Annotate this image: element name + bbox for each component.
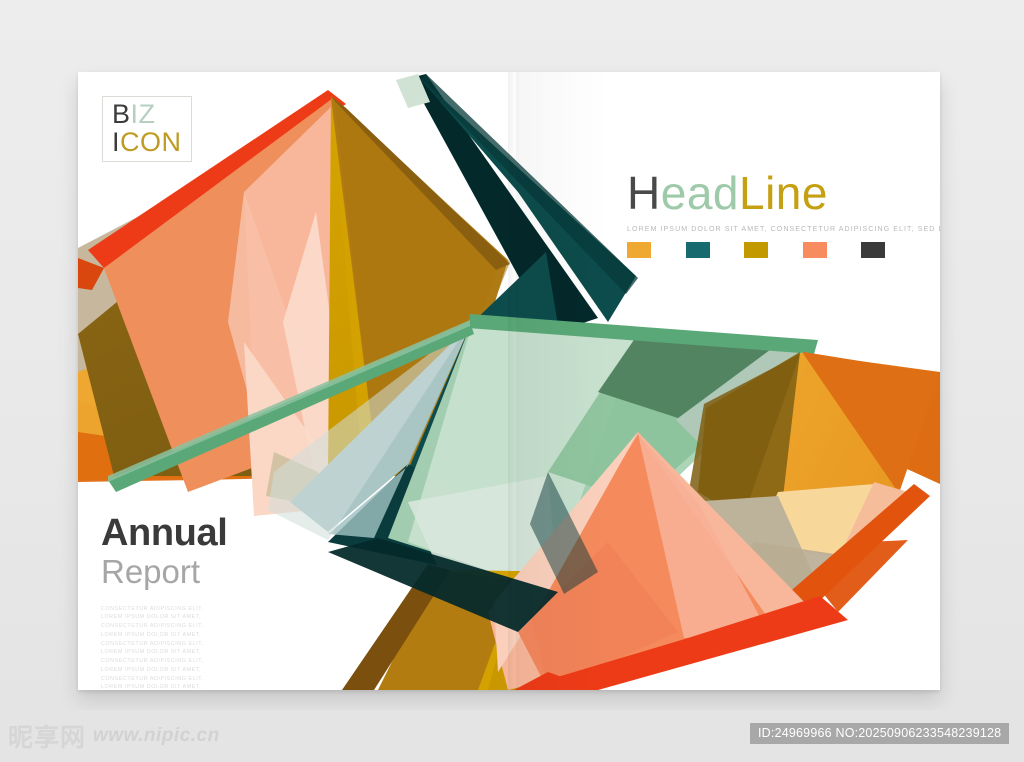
lorem-line: LOREM IPSUM DOLOR SIT AMET, <box>101 613 227 622</box>
headline-part-ead: ead <box>661 167 739 219</box>
swatch-gold[interactable] <box>744 242 768 258</box>
lorem-line: CONSECTETUR ADIPISCING ELIT, <box>101 605 227 614</box>
screenshot-canvas: BIZ ICON HeadLine LOREM IPSUM DOLOR SIT … <box>0 0 1024 762</box>
logo-letters-con: CON <box>120 127 182 157</box>
biz-icon-logo[interactable]: BIZ ICON <box>102 96 192 162</box>
report-lorem-block: CONSECTETUR ADIPISCING ELIT, LOREM IPSUM… <box>101 605 227 690</box>
headline-subtitle: LOREM IPSUM DOLOR SIT AMET, CONSECTETUR … <box>627 225 927 233</box>
site-url: www.nipic.cn <box>93 725 220 747</box>
lorem-line: CONSECTETUR ADIPISCING ELIT, <box>101 622 227 631</box>
lorem-line: CONSECTETUR ADIPISCING ELIT, <box>101 675 227 684</box>
brochure-spread: BIZ ICON HeadLine LOREM IPSUM DOLOR SIT … <box>78 72 940 690</box>
lorem-line: LOREM IPSUM DOLOR SIT AMET, <box>101 683 227 690</box>
lorem-line: CONSECTETUR ADIPISCING ELIT, <box>101 640 227 649</box>
logo-line-2: ICON <box>112 128 182 156</box>
lorem-line: LOREM IPSUM DOLOR SIT AMET, <box>101 648 227 657</box>
swatch-amber[interactable] <box>627 242 651 258</box>
report-title-light: Report <box>101 553 227 592</box>
report-title-bold: Annual <box>101 514 227 553</box>
color-swatch-row <box>627 242 885 258</box>
headline-part-line: Line <box>739 167 828 219</box>
logo-letter-i: I <box>112 127 120 157</box>
id-badge: ID:24969966 NO:20250906233548239128 <box>750 723 1009 744</box>
site-watermark: 昵享网 www.nipic.cn <box>8 718 220 754</box>
logo-line-1: BIZ <box>112 100 182 128</box>
headline-part-h: H <box>627 167 661 219</box>
lorem-line: LOREM IPSUM DOLOR SIT AMET, <box>101 631 227 640</box>
lorem-line: CONSECTETUR ADIPISCING ELIT, <box>101 657 227 666</box>
swatch-teal[interactable] <box>686 242 710 258</box>
swatch-salmon[interactable] <box>803 242 827 258</box>
lorem-line: LOREM IPSUM DOLOR SIT AMET, <box>101 666 227 675</box>
headline-block: HeadLine LOREM IPSUM DOLOR SIT AMET, CON… <box>627 170 927 258</box>
headline-text: HeadLine <box>627 170 927 216</box>
site-name-cn: 昵享网 <box>8 718 86 754</box>
report-title-block: Annual Report CONSECTETUR ADIPISCING ELI… <box>101 514 227 690</box>
swatch-charcoal[interactable] <box>861 242 885 258</box>
logo-letter-b: B <box>112 99 131 129</box>
logo-letters-iz: IZ <box>131 99 156 129</box>
